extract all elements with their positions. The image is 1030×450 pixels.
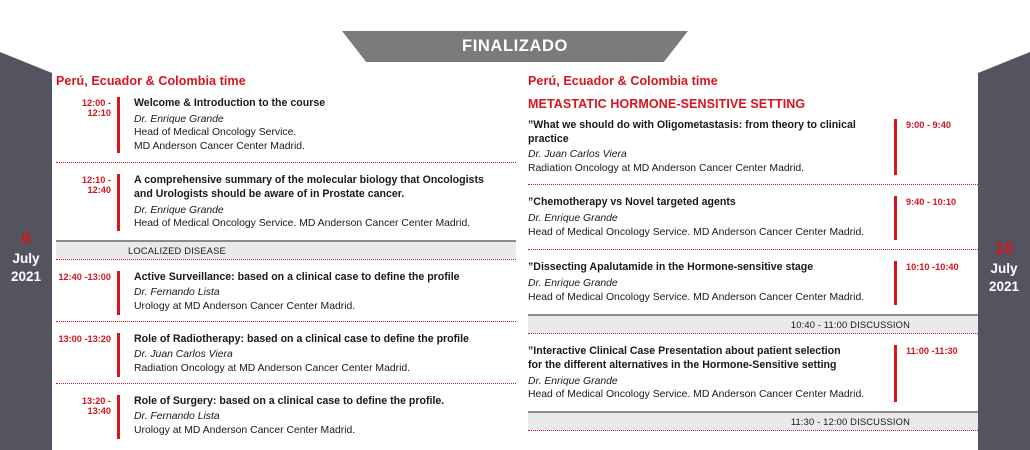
agenda-column-day-9: Perú, Ecuador & Colombia time 12:00 - 12… [56, 74, 516, 439]
day-tab-right-content: 10 July 2021 [978, 238, 1030, 296]
agenda-row-title: Role of Radiotherapy: based on a clinica… [134, 333, 516, 347]
agenda-row-affiliation: Head of Medical Oncology Service. MD And… [134, 217, 516, 231]
agenda-row-affiliation: Urology at MD Anderson Cancer Center Mad… [134, 300, 516, 314]
agenda-row-speaker: Dr. Juan Carlos Viera [134, 348, 516, 362]
row-gap [56, 153, 516, 162]
agenda-row-title: A comprehensive summary of the molecular… [134, 174, 516, 188]
agenda-row-time: 11:00 -11:30 [897, 345, 978, 401]
day-tab-left-year: 2021 [0, 268, 52, 286]
discussion-band: 10:40 - 11:00 DISCUSSION [528, 314, 978, 333]
agenda-row-affiliation: Radiation Oncology at MD Anderson Cancer… [134, 362, 516, 376]
day-tab-right: 10 July 2021 [978, 52, 1030, 450]
section-band-localized-disease: LOCALIZED DISEASE [56, 240, 516, 259]
row-gap [528, 185, 978, 196]
agenda-row-body: Role of Surgery: based on a clinical cas… [117, 395, 516, 439]
agenda-row-title: ”What we should do with Oligometastasis:… [528, 119, 882, 146]
row-gap [56, 163, 516, 174]
row-gap [56, 260, 516, 271]
status-banner-label: FINALIZADO [462, 37, 568, 56]
agenda-row-title: for the different alternatives in the Ho… [528, 359, 882, 373]
agenda-row-speaker: Dr. Enrique Grande [134, 113, 516, 127]
agenda-row-body: A comprehensive summary of the molecular… [117, 174, 516, 230]
agenda-row-title: Role of Surgery: based on a clinical cas… [134, 395, 516, 409]
agenda-row-speaker: Dr. Enrique Grande [528, 375, 882, 389]
day-tab-right-month: July [978, 260, 1030, 278]
agenda-row-affiliation: Head of Medical Oncology Service. [134, 126, 516, 140]
agenda-row[interactable]: 12:10 - 12:40 A comprehensive summary of… [56, 174, 516, 230]
row-separator [528, 430, 978, 431]
agenda-row-affiliation: Urology at MD Anderson Cancer Center Mad… [134, 424, 516, 438]
right-timezone-heading: Perú, Ecuador & Colombia time [528, 74, 978, 88]
agenda-row[interactable]: ”Dissecting Apalutamide in the Hormone-s… [528, 261, 978, 305]
agenda-row-title: ”Chemotherapy vs Novel targeted agents [528, 196, 882, 210]
day-tab-left-month: July [0, 250, 52, 268]
day-tab-right-year: 2021 [978, 278, 1030, 296]
agenda-row[interactable]: 12:40 -13:00 Active Surveillance: based … [56, 271, 516, 315]
agenda-row-affiliation: Head of Medical Oncology Service. MD And… [528, 291, 882, 305]
agenda-row-body: ”What we should do with Oligometastasis:… [528, 119, 897, 175]
day-tab-left-content: 9 July 2021 [0, 228, 52, 286]
agenda-row-title: ”Interactive Clinical Case Presentation … [528, 345, 882, 359]
agenda-row-speaker: Dr. Enrique Grande [528, 212, 882, 226]
agenda-row-time: 12:10 - 12:40 [56, 174, 117, 230]
agenda-row-time: 12:40 -13:00 [56, 271, 117, 315]
agenda-row-body: ”Interactive Clinical Case Presentation … [528, 345, 897, 401]
agenda-row[interactable]: 13:20 - 13:40 Role of Surgery: based on … [56, 395, 516, 439]
agenda-row-title: Active Surveillance: based on a clinical… [134, 271, 516, 285]
agenda-row-body: Role of Radiotherapy: based on a clinica… [117, 333, 516, 377]
agenda-row-time: 9:40 - 10:10 [897, 196, 978, 240]
row-gap [528, 305, 978, 314]
agenda-row-time: 13:00 -13:20 [56, 333, 117, 377]
discussion-band-label: 10:40 - 11:00 DISCUSSION [791, 319, 910, 330]
discussion-band-label: 11:30 - 12:00 DISCUSSION [791, 416, 910, 427]
agenda-row-time: 13:20 - 13:40 [56, 395, 117, 439]
row-gap [528, 175, 978, 184]
agenda-row-title: and Urologists should be aware of in Pro… [134, 188, 516, 202]
agenda-row-time: 10:10 -10:40 [897, 261, 978, 305]
row-gap [528, 334, 978, 345]
row-gap [528, 240, 978, 249]
section-band-label: LOCALIZED DISEASE [128, 245, 226, 256]
agenda-row-time: 12:00 - 12:10 [56, 97, 117, 153]
agenda-row-affiliation: MD Anderson Cancer Center Madrid. [134, 140, 516, 154]
agenda-row-speaker: Dr. Enrique Grande [134, 204, 516, 218]
day-tab-left: 9 July 2021 [0, 52, 52, 450]
agenda-row-body: Welcome & Introduction to the course Dr.… [117, 97, 516, 153]
agenda-row-speaker: Dr. Fernando Lista [134, 286, 516, 300]
agenda-row-title: ”Dissecting Apalutamide in the Hormone-s… [528, 261, 882, 275]
agenda-row[interactable]: ”What we should do with Oligometastasis:… [528, 119, 978, 175]
agenda-page: FINALIZADO 9 July 2021 10 July 2021 Perú… [0, 0, 1030, 450]
agenda-row-affiliation: Head of Medical Oncology Service. MD And… [528, 226, 882, 240]
agenda-row[interactable]: 13:00 -13:20 Role of Radiotherapy: based… [56, 333, 516, 377]
row-gap [528, 250, 978, 261]
row-gap [56, 384, 516, 395]
agenda-column-day-10: Perú, Ecuador & Colombia time METASTATIC… [528, 74, 978, 431]
row-gap [56, 231, 516, 240]
right-section-heading: METASTATIC HORMONE-SENSITIVE SETTING [528, 97, 978, 111]
agenda-row[interactable]: ”Interactive Clinical Case Presentation … [528, 345, 978, 401]
agenda-row-body: Active Surveillance: based on a clinical… [117, 271, 516, 315]
row-gap [56, 322, 516, 333]
status-banner: FINALIZADO [342, 31, 688, 62]
discussion-band: 11:30 - 12:00 DISCUSSION [528, 411, 978, 430]
row-gap [528, 402, 978, 411]
agenda-row-title: Welcome & Introduction to the course [134, 97, 516, 111]
agenda-row-speaker: Dr. Juan Carlos Viera [528, 148, 882, 162]
agenda-row-body: ”Chemotherapy vs Novel targeted agents D… [528, 196, 897, 240]
day-tab-right-number: 10 [978, 238, 1030, 260]
agenda-row-time: 9:00 - 9:40 [897, 119, 978, 175]
left-timezone-heading: Perú, Ecuador & Colombia time [56, 74, 516, 88]
agenda-row-speaker: Dr. Fernando Lista [134, 410, 516, 424]
day-tab-left-number: 9 [0, 228, 52, 250]
agenda-row[interactable]: ”Chemotherapy vs Novel targeted agents D… [528, 196, 978, 240]
agenda-row[interactable]: 12:00 - 12:10 Welcome & Introduction to … [56, 97, 516, 153]
agenda-row-speaker: Dr. Enrique Grande [528, 277, 882, 291]
agenda-row-affiliation: Radiation Oncology at MD Anderson Cancer… [528, 162, 882, 176]
agenda-row-affiliation: Head of Medical Oncology Service. MD And… [528, 388, 882, 402]
agenda-row-body: ”Dissecting Apalutamide in the Hormone-s… [528, 261, 897, 305]
